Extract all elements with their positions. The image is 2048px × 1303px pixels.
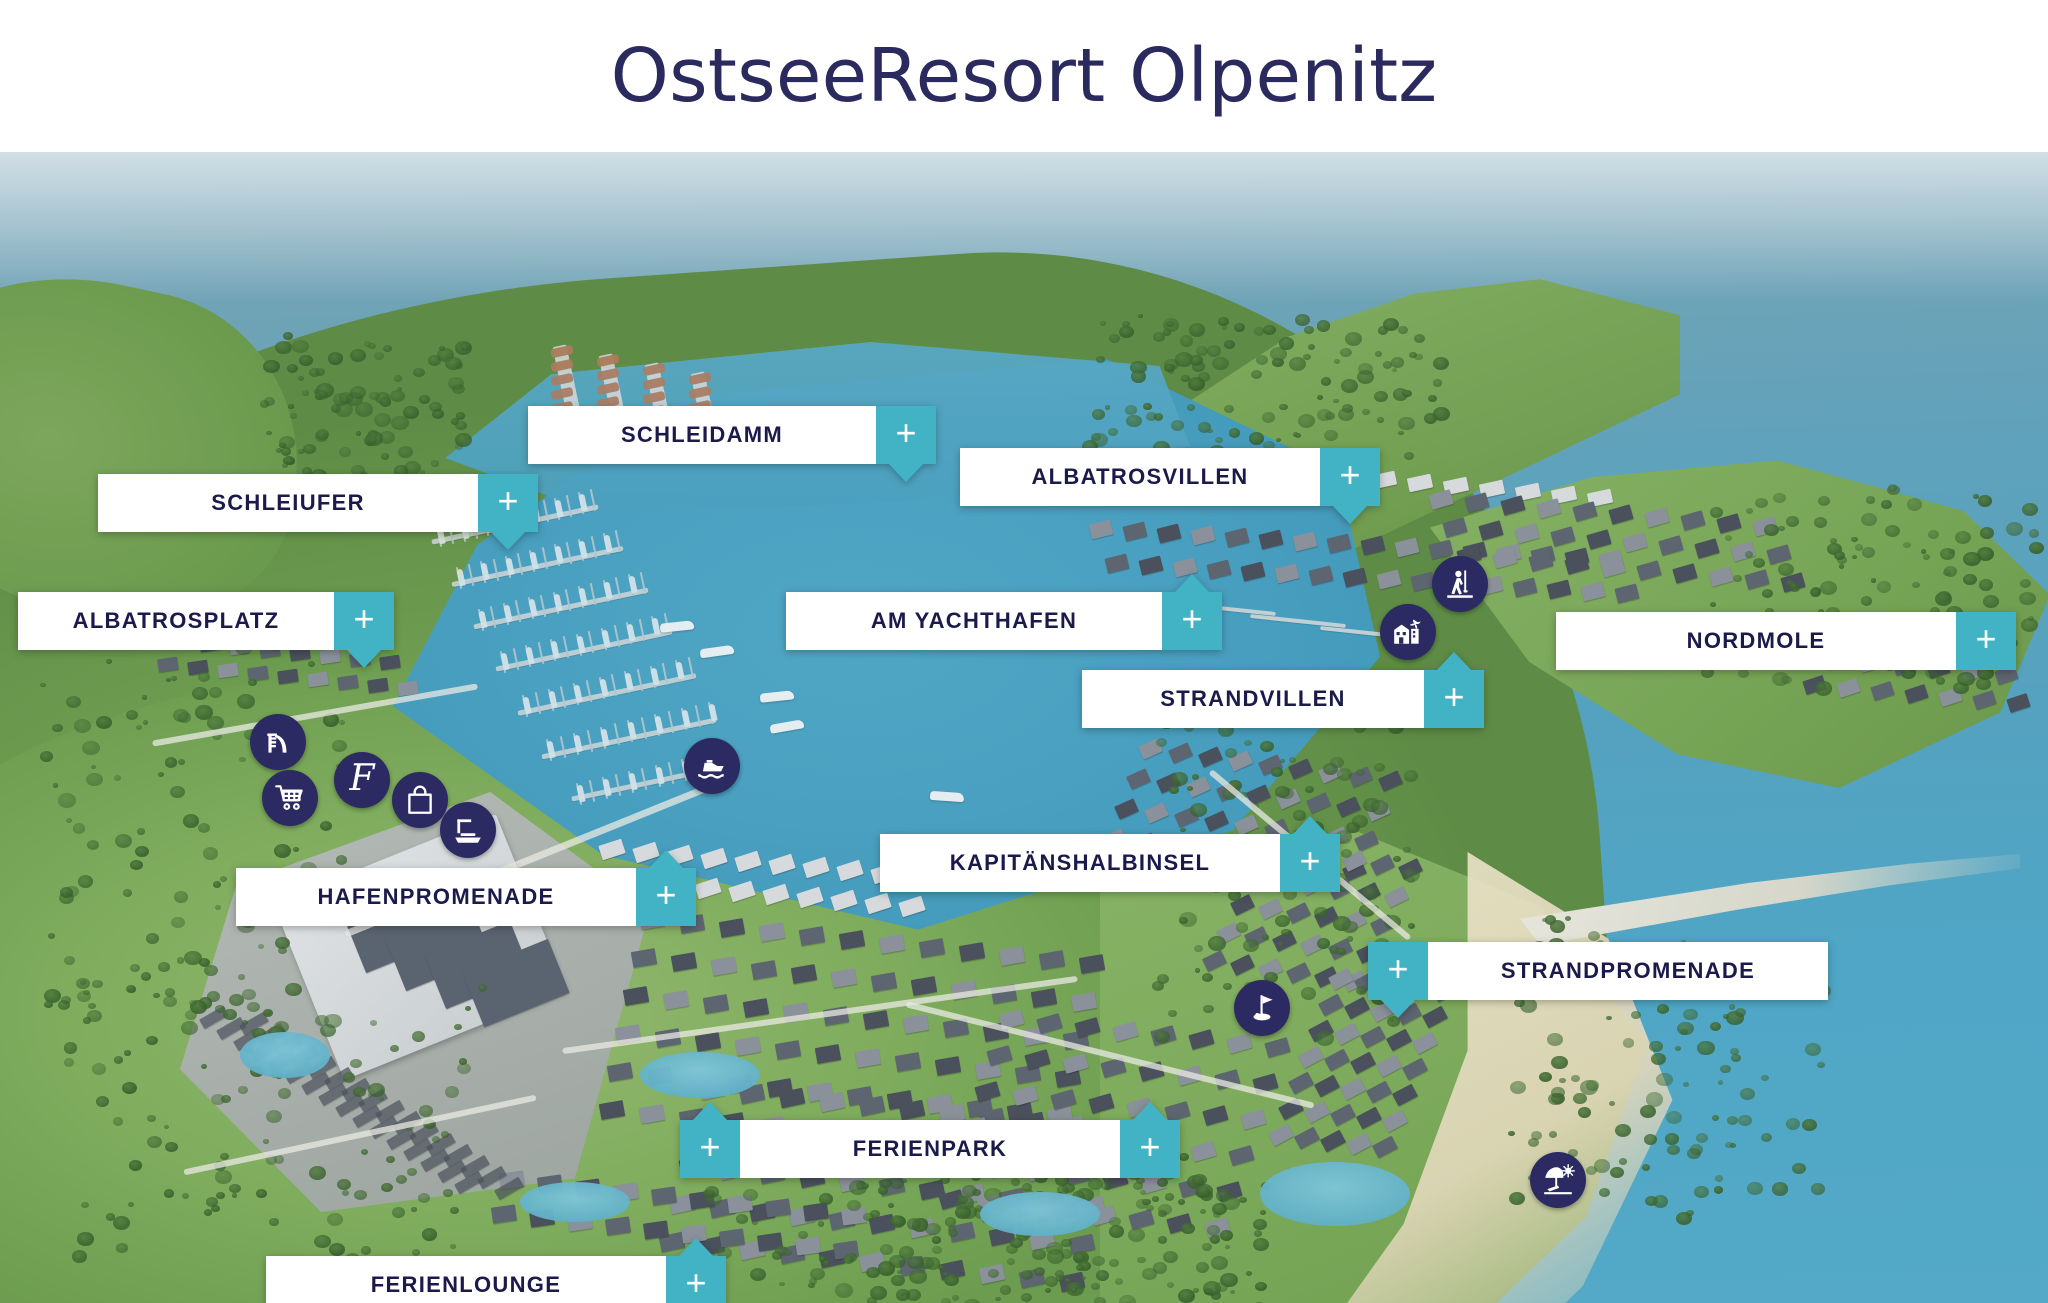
paddleboard-icon[interactable]	[1432, 556, 1488, 612]
script-f-icon[interactable]: F	[334, 752, 390, 808]
page-header: OstseeResort Olpenitz	[0, 0, 2048, 152]
resort-map-page: OstseeResort Olpenitz SCHLEIDAMM+ALBAT	[0, 0, 2048, 1303]
poi-layer: F	[0, 152, 2048, 1303]
script-f-glyph: F	[350, 761, 375, 797]
shopping-bag-icon[interactable]	[392, 772, 448, 828]
water-slide-icon[interactable]	[250, 714, 306, 770]
motorboat-icon[interactable]	[684, 738, 740, 794]
beach-umbrella-icon[interactable]	[1530, 1152, 1586, 1208]
boat-dock-icon[interactable]	[440, 802, 496, 858]
page-title: OstseeResort Olpenitz	[611, 33, 1438, 119]
golf-flag-icon[interactable]	[1234, 980, 1290, 1036]
resort-building-icon[interactable]	[1380, 604, 1436, 660]
shopping-cart-icon[interactable]	[262, 770, 318, 826]
resort-map[interactable]: SCHLEIDAMM+ALBATROSVILLEN+SCHLEIUFER+ALB…	[0, 152, 2048, 1303]
